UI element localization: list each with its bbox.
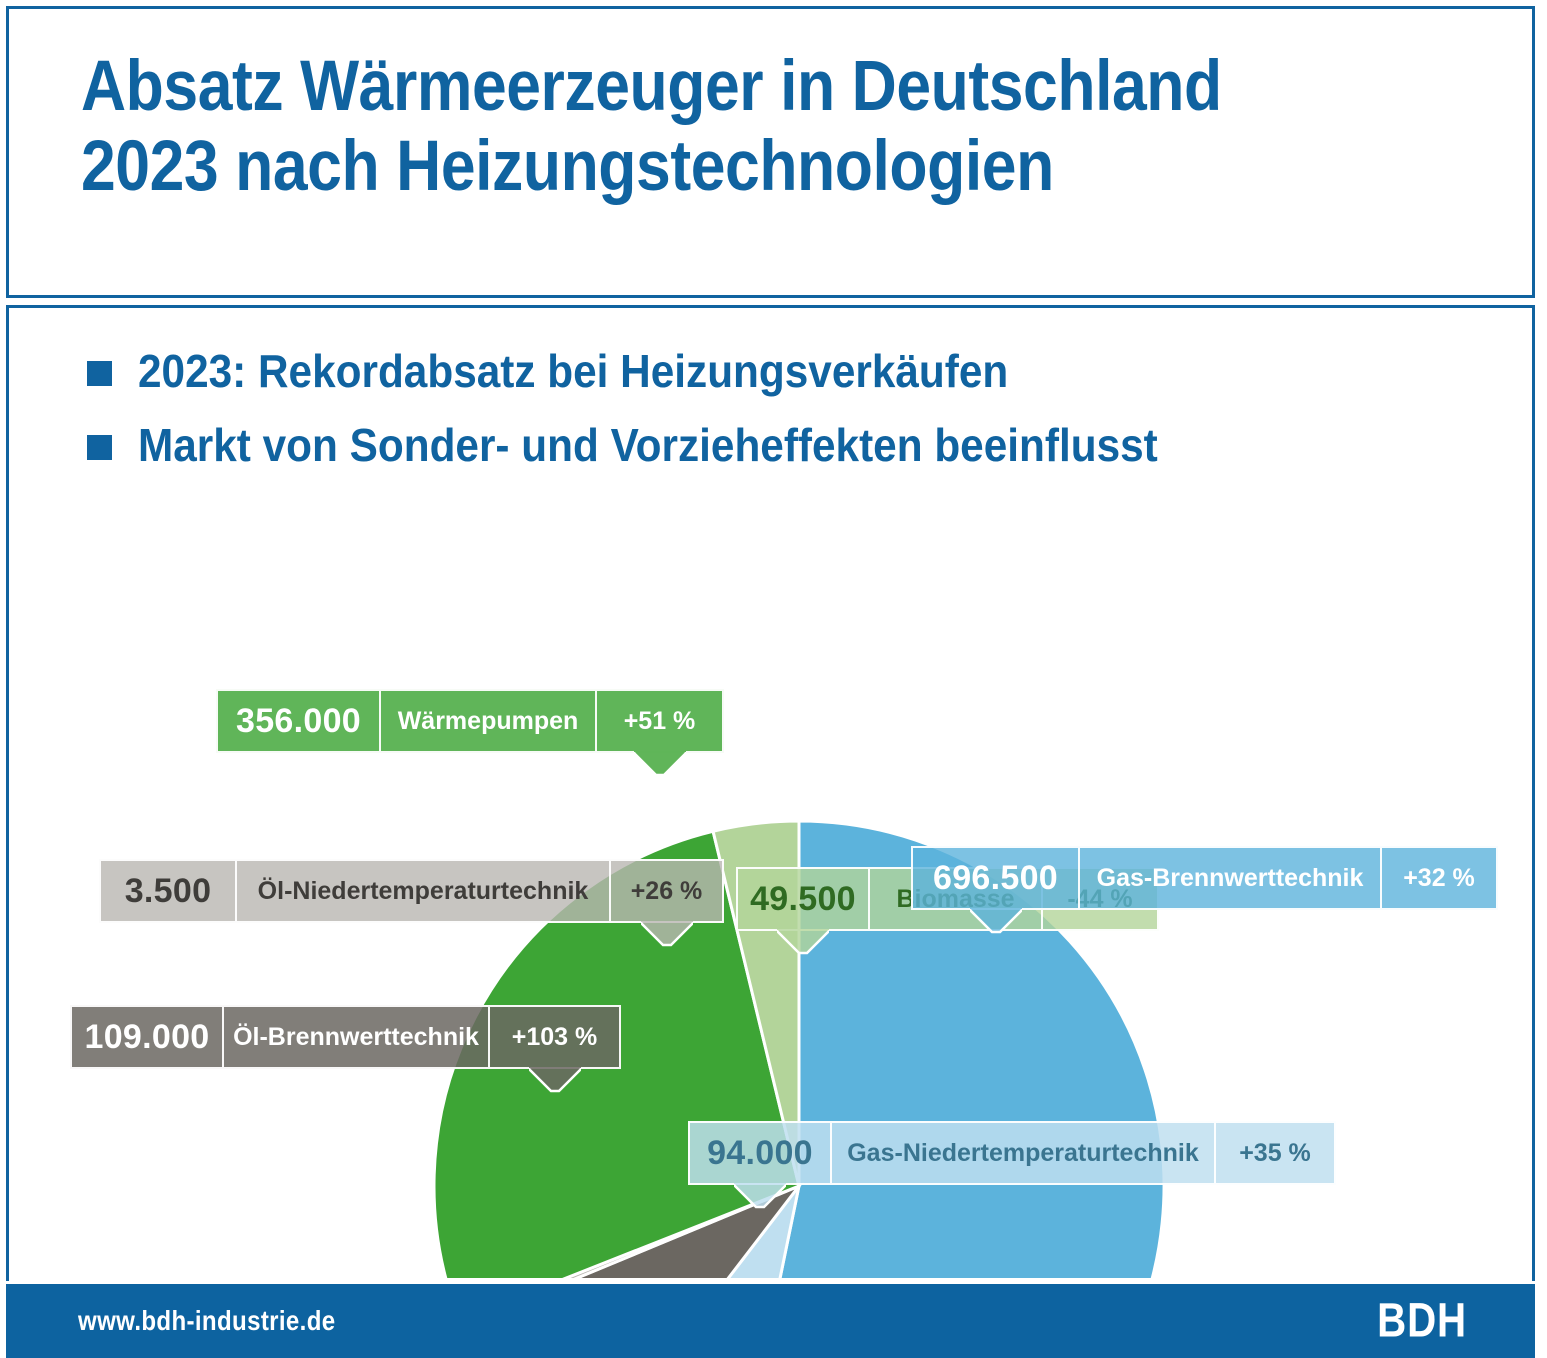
callout-value: 3.500 bbox=[99, 859, 235, 923]
callout-change: +32 % bbox=[1380, 846, 1498, 910]
content-panel: 2023: Rekordabsatz bei Heizungsverkäufen… bbox=[6, 305, 1535, 1281]
callout-label: Öl-Niedertemperaturtechnik bbox=[235, 859, 609, 923]
page-title: Absatz Wärmeerzeuger in Deutschland 2023… bbox=[81, 47, 1331, 206]
bullet-square-icon bbox=[87, 435, 112, 460]
callout-oel-brennwerttechnik: 109.000 Öl-Brennwerttechnik +103 % bbox=[70, 1005, 621, 1069]
list-item: Markt von Sonder- und Vorzieheffekten be… bbox=[87, 418, 1487, 472]
callout-waermepumpen: 356.000 Wärmepumpen +51 % bbox=[216, 689, 724, 753]
callout-change: +26 % bbox=[609, 859, 724, 923]
callout-change: +51 % bbox=[595, 689, 724, 753]
callout-pointer-icon bbox=[634, 751, 686, 777]
callout-pointer-icon bbox=[529, 1067, 581, 1093]
callout-pointer-icon bbox=[777, 929, 829, 955]
bdh-logo: BDH bbox=[1377, 1294, 1467, 1349]
callout-label: Öl-Brennwerttechnik bbox=[222, 1005, 488, 1069]
callout-label: Gas-Brennwerttechnik bbox=[1078, 846, 1380, 910]
callout-oel-niedertemperaturtechnik: 3.500 Öl-Niedertemperaturtechnik +26 % bbox=[99, 859, 724, 923]
callout-gas-brennwerttechnik: 696.500 Gas-Brennwerttechnik +32 % bbox=[911, 846, 1498, 910]
callout-change: +35 % bbox=[1214, 1121, 1336, 1185]
callout-value: 109.000 bbox=[70, 1005, 222, 1069]
title-panel: Absatz Wärmeerzeuger in Deutschland 2023… bbox=[6, 6, 1535, 298]
list-item: 2023: Rekordabsatz bei Heizungsverkäufen bbox=[87, 344, 1487, 398]
callout-value: 696.500 bbox=[911, 846, 1078, 910]
callout-label: Gas-Niedertemperaturtechnik bbox=[830, 1121, 1214, 1185]
callout-pointer-icon bbox=[641, 921, 693, 947]
list-item-label: 2023: Rekordabsatz bei Heizungsverkäufen bbox=[138, 344, 1008, 398]
callout-pointer-icon bbox=[734, 1183, 786, 1209]
key-points-list: 2023: Rekordabsatz bei Heizungsverkäufen… bbox=[87, 344, 1487, 493]
callout-gas-niedertemperaturtechnik: 94.000 Gas-Niedertemperaturtechnik +35 % bbox=[688, 1121, 1336, 1185]
callout-label: Wärmepumpen bbox=[379, 689, 595, 753]
callout-value: 94.000 bbox=[688, 1121, 830, 1185]
callout-value: 356.000 bbox=[216, 689, 379, 753]
footer-website-link[interactable]: www.bdh-industrie.de bbox=[78, 1305, 335, 1337]
callout-value: 49.500 bbox=[736, 867, 868, 931]
footer-bar: www.bdh-industrie.de BDH bbox=[6, 1284, 1535, 1358]
callout-pointer-icon bbox=[970, 908, 1022, 934]
callout-change: +103 % bbox=[488, 1005, 621, 1069]
bullet-square-icon bbox=[87, 361, 112, 386]
list-item-label: Markt von Sonder- und Vorzieheffekten be… bbox=[138, 418, 1158, 472]
